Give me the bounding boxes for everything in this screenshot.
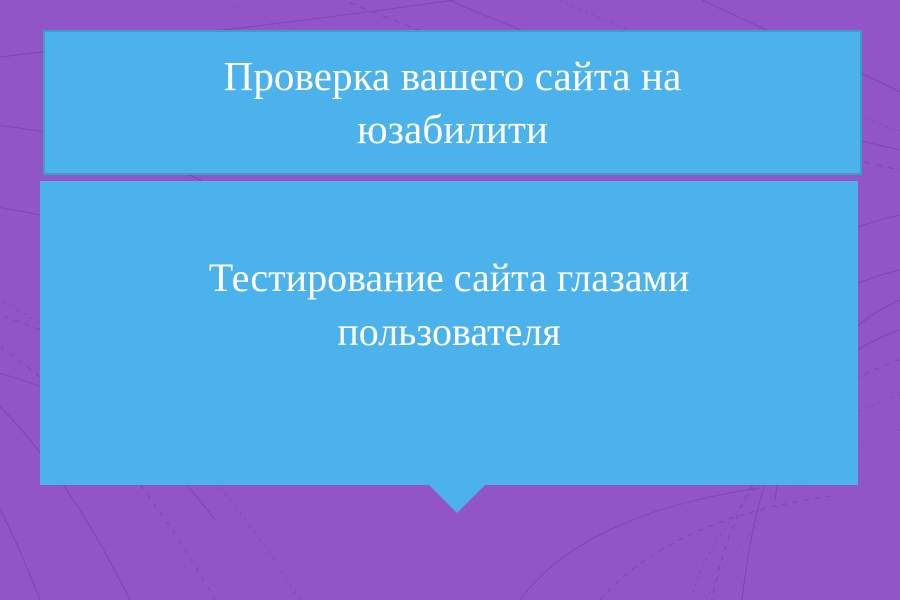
slide-canvas: Проверка вашего сайта на юзабилити Тести…: [0, 0, 900, 600]
speech-bubble-tail: [429, 485, 485, 513]
body-card: Тестирование сайта глазами пользователя: [40, 181, 858, 485]
slide-body-text: Тестирование сайта глазами пользователя: [169, 181, 729, 359]
title-card: Проверка вашего сайта на юзабилити: [43, 30, 862, 175]
slide-title: Проверка вашего сайта на юзабилити: [198, 50, 708, 155]
